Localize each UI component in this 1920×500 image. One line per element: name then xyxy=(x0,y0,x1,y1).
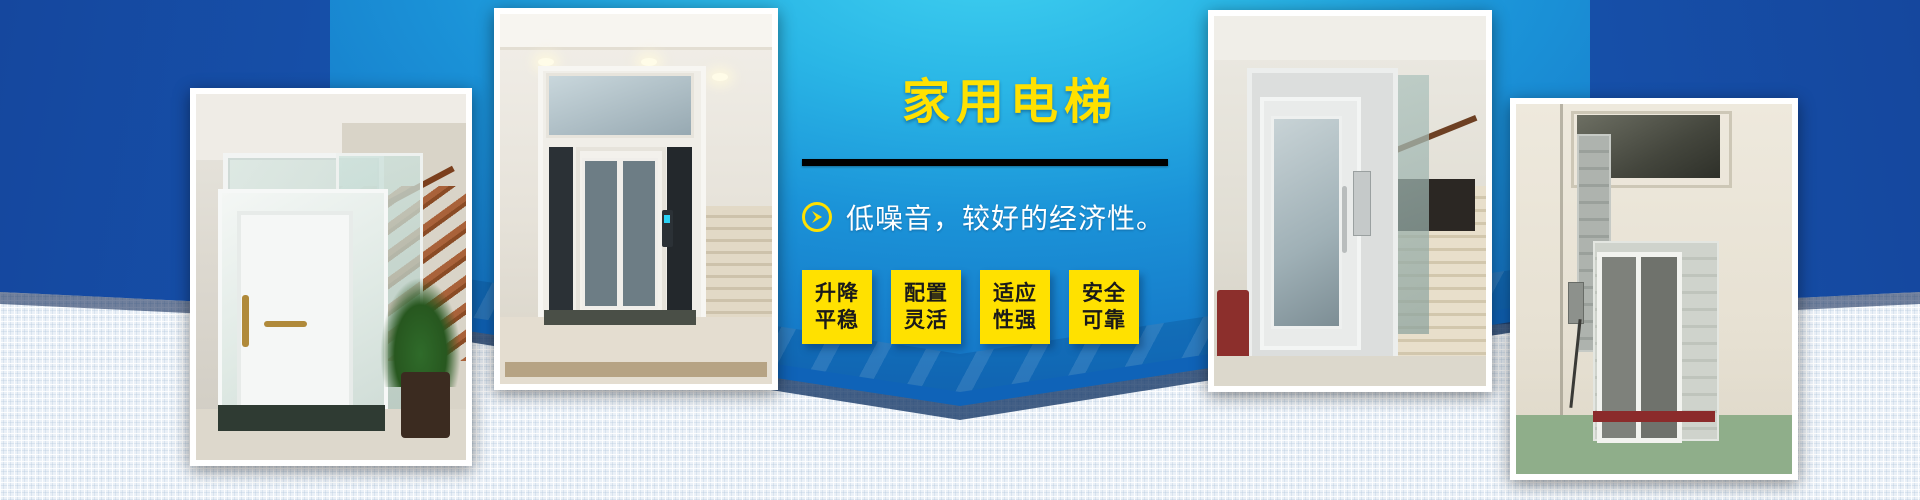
badge-line-1: 安全 xyxy=(1082,280,1126,307)
floor-inlay-band xyxy=(505,362,766,377)
photo-4-image xyxy=(1516,104,1792,474)
door-handle-horizontal xyxy=(264,321,307,327)
door-glass xyxy=(1271,116,1342,329)
subtitle-text: 低噪音，较好的经济性。 xyxy=(846,197,1165,237)
scene-stainless-elevator xyxy=(1214,16,1486,386)
door-handle-vertical xyxy=(242,295,249,346)
power-cable xyxy=(1569,319,1581,408)
scene-installation xyxy=(1516,104,1792,474)
photo-3-image xyxy=(1214,16,1486,386)
feature-badge: 配置 灵活 xyxy=(891,270,961,344)
badge-line-1: 配置 xyxy=(904,280,948,307)
machine-room-glass xyxy=(546,73,693,138)
badge-line-2: 平稳 xyxy=(815,307,859,334)
marble-threshold xyxy=(218,405,385,431)
door-sill xyxy=(544,310,696,325)
feature-badge-list: 升降 平稳 配置 灵活 适应 性强 安全 可靠 xyxy=(802,270,1222,344)
title-divider xyxy=(802,159,1168,166)
door-handle xyxy=(1342,186,1347,253)
photo-stainless-steel-elevator-beside-staircase xyxy=(1208,10,1492,392)
subtitle-row: 低噪音，较好的经济性。 xyxy=(802,200,1222,234)
crown-molding xyxy=(500,14,772,50)
feature-badge: 适应 性强 xyxy=(980,270,1050,344)
scene-glass-shaft-elevator xyxy=(196,94,466,460)
control-panel xyxy=(1353,171,1371,236)
plant-pot xyxy=(401,372,450,438)
left-glass-panel xyxy=(549,147,573,317)
badge-line-1: 升降 xyxy=(815,280,859,307)
photo-bright-lobby-elevator-with-stairs xyxy=(494,8,778,390)
potted-plant-leaves xyxy=(380,277,461,387)
cabin-door-left xyxy=(582,158,621,308)
scene-lobby-elevator xyxy=(500,14,772,384)
badge-line-2: 灵活 xyxy=(904,307,948,334)
photo-2-image xyxy=(500,14,772,384)
photo-elevator-installation-in-progress xyxy=(1510,98,1798,480)
feature-badge: 安全 可靠 xyxy=(1069,270,1139,344)
floor xyxy=(1214,356,1486,386)
page-title: 家用电梯 xyxy=(800,78,1220,126)
wall-control-box xyxy=(1568,282,1584,325)
feature-badge: 升降 平稳 xyxy=(802,270,872,344)
home-elevator-banner: 家用电梯 低噪音，较好的经济性。 升降 平稳 配置 灵活 适应 性强 xyxy=(0,0,1920,500)
banner-content: 家用电梯 低噪音，较好的经济性。 升降 平稳 配置 灵活 适应 性强 xyxy=(800,0,1220,400)
call-panel xyxy=(662,210,673,247)
door-threshold xyxy=(1593,411,1714,422)
cabin-door-right xyxy=(620,158,659,308)
badge-line-2: 可靠 xyxy=(1082,307,1126,334)
ceiling-downlight xyxy=(712,73,728,81)
ceiling xyxy=(1214,16,1486,60)
photo-glass-shaft-home-elevator-with-plant xyxy=(190,88,472,466)
photo-1-image xyxy=(196,94,466,460)
badge-line-1: 适应 xyxy=(993,280,1037,307)
circle-arrow-right-icon xyxy=(802,202,832,232)
badge-line-2: 性强 xyxy=(993,307,1037,334)
